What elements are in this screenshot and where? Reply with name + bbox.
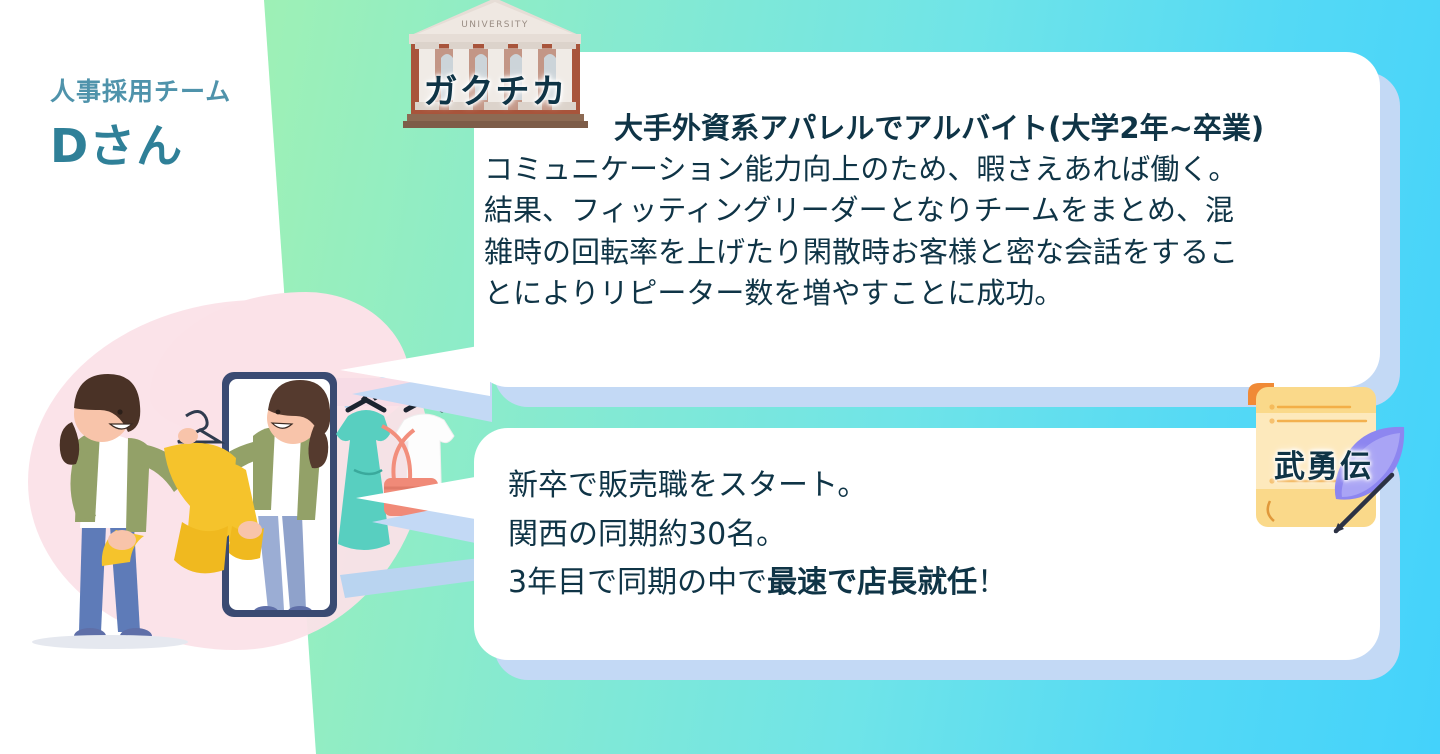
gakuchika-line-1: コミュニケーション能力向上のため、暇さえあれば働く。 [484,149,1384,190]
buyuden-line-3-prefix: 3年目で同期の中で [508,565,767,600]
gakuchika-line-3: 雑時の回転率を上げたり閑散時お客様と密な会話をするこ [484,232,1384,273]
svg-text:UNIVERSITY: UNIVERSITY [461,20,528,30]
gakuchika-bubble-text: 大手外資系アパレルでアルバイト(大学2年~卒業) コミュニケーション能力向上のた… [484,108,1384,314]
badge-buyuden-label: 武勇伝 [1236,441,1411,486]
shopper-figure [32,374,236,649]
speaker-name: Dさん [50,122,231,170]
badge-gakuchika-label: ガクチカ [403,64,588,113]
buyuden-line-3-emphasis: 最速で店長就任 [767,565,977,600]
gakuchika-line-4: とによりリピーター数を増やすことに成功。 [484,273,1384,314]
buyuden-line-3: 3年目で同期の中で最速で店長就任！ [508,559,1388,608]
gakuchika-line-2: 結果、フィッティングリーダーとなりチームをまとめ、混 [484,190,1384,231]
speaker-header: 人事採用チーム Dさん [50,78,231,170]
bubble-tail-2 [356,474,492,522]
poster-canvas: 大手外資系アパレルでアルバイト(大学2年~卒業) コミュニケーション能力向上のた… [0,0,1440,754]
badge-gakuchika: UNIVERSITY [403,0,588,131]
buyuden-line-3-suffix: ！ [977,565,1007,600]
speaker-role: 人事採用チーム [50,78,231,106]
bubble-tail-1 [340,344,490,396]
badge-buyuden: 武勇伝 [1236,381,1411,546]
gakuchika-heading: 大手外資系アパレルでアルバイト(大学2年~卒業) [484,108,1384,149]
